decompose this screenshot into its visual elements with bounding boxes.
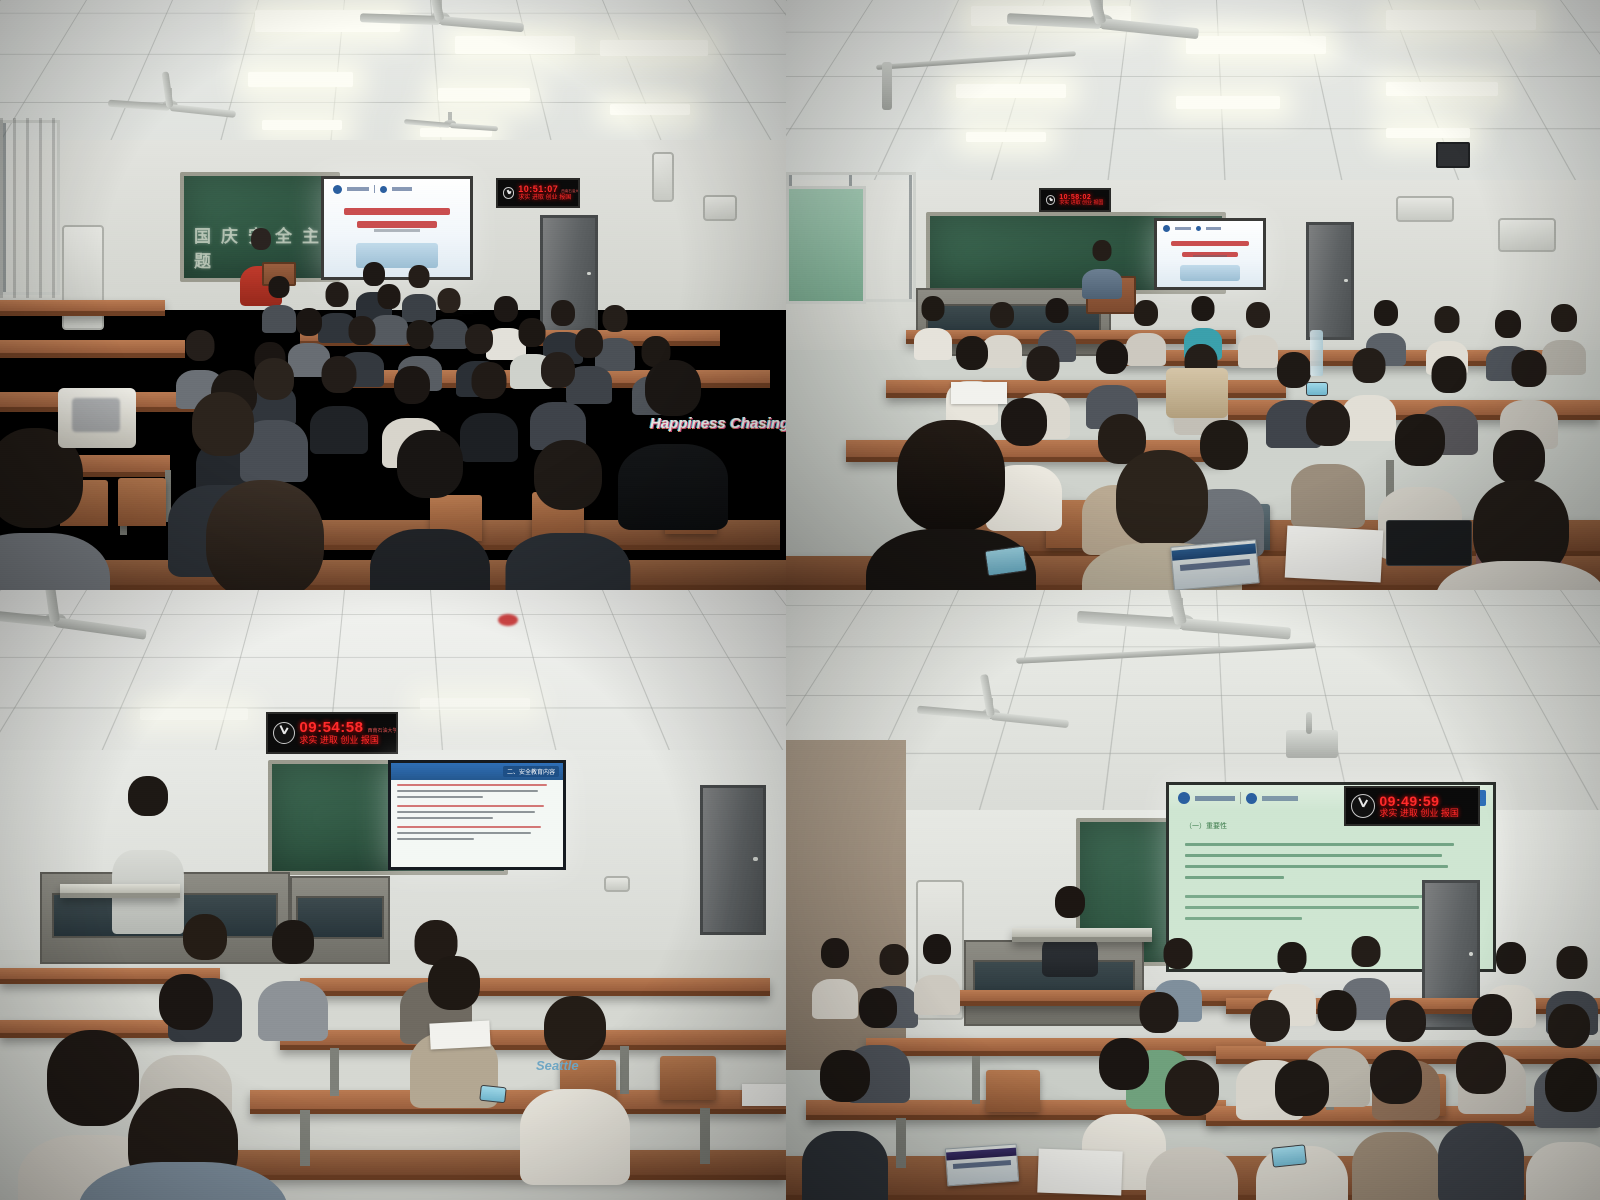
bag-pattern [72,398,120,432]
clock-motto: 求实 进取 创业 报国 [1059,201,1104,206]
panel-top-left: 国庆安全主题 [0,0,786,590]
clock-dial-icon [1046,195,1055,204]
smoke-detector [498,614,518,626]
recessed-light-panel [438,88,530,101]
recessed-light-panel [966,132,1046,142]
clock-subtext: 西南石油大学欢迎您 [561,190,580,194]
air-conditioner [703,195,737,221]
audience-member [1438,1042,1524,1172]
recessed-light-panel [1176,96,1280,109]
slide-header-label: 二、安全教育内容 [503,766,559,777]
audience-member [1038,298,1076,350]
standing-person [112,776,184,896]
slide-image [1180,265,1239,281]
slide-logo-row [333,185,412,194]
projection-screen [1154,218,1266,290]
clock-motto: 求实 进取 创业 报国 [518,195,573,201]
led-clock-display[interactable]: 10:51:07 西南石油大学欢迎您 求实 进取 创业 报国 [496,178,580,208]
ceiling-fan [95,88,245,122]
led-clock-display[interactable]: 09:54:58 西南石油大学欢迎您 求实 进取 创业 报国 [266,712,398,754]
clock-time: 10:51:07 [518,185,558,194]
recessed-light-panel [610,104,690,115]
desk-row [0,340,185,358]
tshirt-graphic: Seattle [536,1058,579,1073]
desk-row [0,300,165,316]
ceiling-fan [0,600,145,644]
clock-subtext: 西南石油大学欢迎您 [367,729,398,734]
audience-member [1352,1050,1440,1182]
panel-top-right: 10:58:02 求实 进取 创业 报国 [786,0,1600,590]
notebook[interactable] [1285,526,1384,583]
tshirt-graphic: Happiness Chasing [650,415,786,432]
desk-row [866,1038,1266,1056]
tablet-case[interactable] [1386,520,1472,566]
handbag [1166,368,1228,418]
wall-cabinet [1498,218,1556,252]
chair [986,1070,1040,1112]
wall-speaker [1436,142,1470,168]
projector-mount [1306,712,1312,734]
wall-vent [604,876,630,892]
front-desk [60,884,180,898]
textbook[interactable] [945,1144,1019,1187]
recessed-light-panel [956,84,1066,98]
audience-member [410,956,498,1078]
audience-member [1291,400,1365,504]
ceiling-conduit [882,62,892,110]
desk-leg [896,1118,906,1168]
clock-time: 09:54:58 [299,720,363,736]
audience-member [1086,340,1138,412]
presenter [1082,240,1122,286]
desk-leg [330,1048,339,1096]
slide-date [1193,255,1227,257]
slide-title [1168,241,1253,263]
audience-member [1426,306,1468,362]
flat-panel-display: 二、安全教育内容 [388,760,566,870]
audience-member [530,352,586,432]
audience-member [505,440,630,590]
audience-member [802,1050,888,1180]
ceiling-fan [996,0,1206,46]
slide-header: 二、安全教育内容 [391,763,563,780]
led-clock-display[interactable]: 09:49:59 求实 进取 创业 报国 [1344,786,1480,826]
notebook[interactable] [742,1084,786,1106]
smartphone[interactable] [479,1085,507,1104]
recessed-light-panel [1386,10,1536,30]
ceiling-fan [1066,598,1296,648]
smartphone[interactable] [1271,1144,1307,1167]
slide-body [391,780,563,867]
clock-dial-icon [503,187,514,198]
audience-member [1366,300,1406,354]
front-desk [1012,928,1152,942]
desk-leg [972,1056,980,1104]
desk-row [300,978,770,996]
instructor [1042,886,1098,958]
audience-member [370,430,490,590]
water-bottle[interactable] [1310,330,1323,376]
textbook[interactable] [1170,539,1260,590]
recessed-light-panel [262,120,342,130]
recessed-light-panel [248,72,353,87]
ceiling-projector [1286,730,1338,758]
clock-dial-icon [1351,794,1375,818]
desk-leg [700,1108,710,1164]
audience-member [1256,1060,1348,1198]
slide-logo-row [1163,225,1221,232]
clock-dial-icon [273,722,295,744]
air-conditioner [652,152,674,202]
audience-member [914,934,960,1000]
ceiling-fan [395,112,505,138]
curtain [0,118,62,298]
recessed-light-panel [600,40,708,56]
audience-member-foreground [150,480,380,590]
projection-screen [321,176,473,280]
smartphone[interactable] [984,545,1027,576]
audience-member [310,356,368,436]
desk-leg [300,1110,310,1166]
recessed-light-panel [1186,36,1326,54]
notebook[interactable] [429,1020,490,1049]
classroom-door[interactable] [1306,222,1354,340]
audience-member-foreground [78,1088,288,1200]
recessed-light-panel [140,708,248,720]
panel-bottom-left: 09:54:58 西南石油大学欢迎您 求实 进取 创业 报国 二、安全教育内容 [0,590,786,1200]
air-conditioner [1396,196,1454,222]
audience-member [1238,302,1278,356]
chair [660,1056,716,1100]
ceiling-fan [906,698,1076,736]
audience-member [1500,350,1558,430]
ceiling-fan [350,0,530,40]
recessed-light-panel [1386,82,1498,96]
notebook[interactable] [1037,1149,1122,1196]
clock-motto: 求实 进取 创业 报国 [299,736,391,745]
classroom-door[interactable] [700,785,766,935]
recessed-light-panel [420,698,530,710]
photo-collage: 国庆安全主题 [0,0,1600,1200]
recessed-light-panel [1386,128,1470,138]
notebook[interactable] [951,382,1007,404]
audience-member [1184,296,1222,348]
audience-member [258,920,328,1018]
audience-member-foreground [0,428,110,590]
audience-member [1146,1060,1238,1200]
smartphone[interactable] [1306,382,1328,396]
led-clock-display[interactable]: 10:58:02 求实 进取 创业 报国 [1039,188,1111,212]
slide-date [374,229,421,232]
audience-member [1526,1058,1600,1194]
clock-time: 09:49:59 [1379,794,1439,809]
clock-motto: 求实 进取 创业 报国 [1379,809,1473,818]
panel-bottom-right: 二、安全教育 （一）重要性 [786,590,1600,1200]
window-wall[interactable] [786,186,866,304]
